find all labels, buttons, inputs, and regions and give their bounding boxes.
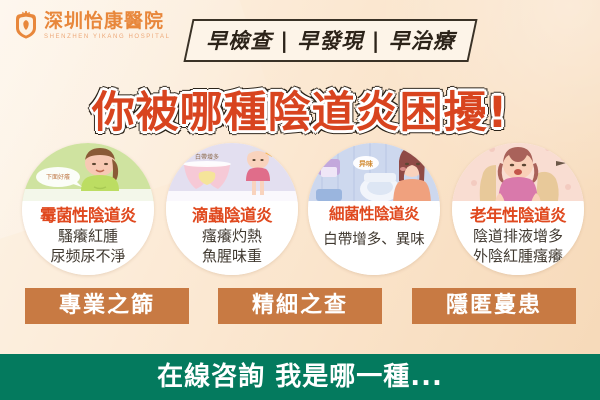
condition-card-body: 滴蟲陰道炎 瘙癢灼熱 魚腥味重	[166, 201, 298, 275]
online-consultation-cta[interactable]: 在線咨詢 我是哪一種...	[0, 354, 600, 400]
condition-symptom: 騷癢紅腫	[22, 228, 154, 246]
condition-symptom: 外陰紅腫瘙癢	[452, 248, 584, 266]
hospital-logo[interactable]: 深圳怡康醫院 SHENZHEN YIKANG HOSPITAL	[13, 11, 171, 40]
condition-title: 霉菌性陰道炎	[22, 202, 154, 226]
condition-title: 細菌性陰道炎	[308, 202, 440, 224]
condition-card[interactable]: 下面好癢 霉菌性陰道炎 騷癢紅腫 尿频尿不淨	[22, 143, 154, 275]
logo-name-en: SHENZHEN YIKANG HOSPITAL	[44, 34, 171, 40]
tagline-text: 早檢查 | 早發現 | 早治療	[206, 25, 455, 55]
condition-symptom: 白帶增多、異味	[308, 232, 440, 249]
tagline-box: 早檢查 | 早發現 | 早治療	[183, 19, 477, 62]
condition-card-body: 老年性陰道炎 陰道排液增多 外陰紅腫瘙癢	[452, 201, 584, 275]
condition-card-body: 霉菌性陰道炎 騷癢紅腫 尿频尿不淨	[22, 201, 154, 275]
svg-text:异味: 异味	[359, 159, 373, 168]
advertisement-banner: 深圳怡康醫院 SHENZHEN YIKANG HOSPITAL 早檢查 | 早發…	[0, 0, 600, 400]
feature-pill-examination[interactable]: 精細之查	[218, 288, 382, 324]
condition-symptom: 瘙癢灼熱	[166, 228, 298, 246]
condition-card[interactable]: 白帶增多 滴蟲陰道炎 瘙癢灼熱 魚腥味重	[166, 143, 298, 275]
condition-symptom: 魚腥味重	[166, 248, 298, 266]
page-title: 你被哪種陰道炎困擾!	[0, 78, 600, 140]
condition-card[interactable]: 异味 細菌性陰道炎 白帶增多、異味	[308, 143, 440, 275]
condition-symptom: 尿频尿不淨	[22, 248, 154, 266]
feature-pill-hidden-risk[interactable]: 隱匿蔓患	[412, 288, 576, 324]
condition-title: 老年性陰道炎	[452, 202, 584, 226]
underwear-discharge-icon: 白帶增多	[166, 143, 298, 207]
feature-pill-list: 專業之篩 精細之查 隱匿蔓患	[0, 288, 600, 326]
bathroom-odor-icon: 异味	[308, 143, 440, 207]
logo-name-cn: 深圳怡康醫院	[44, 12, 171, 31]
condition-card-body: 細菌性陰道炎 白帶增多、異味	[308, 201, 440, 275]
condition-card[interactable]: 老年性陰道炎 陰道排液增多 外陰紅腫瘙癢	[452, 143, 584, 275]
tagline: 早檢查 | 早發現 | 早治療	[188, 19, 473, 62]
condition-symptom: 陰道排液增多	[452, 228, 584, 246]
elderly-woman-resting-icon	[452, 143, 584, 207]
feature-pill-screening[interactable]: 專業之篩	[25, 288, 189, 324]
condition-title: 滴蟲陰道炎	[166, 202, 298, 226]
condition-card-list: 下面好癢 霉菌性陰道炎 騷癢紅腫 尿频尿不淨 白帶增多	[0, 143, 600, 278]
svg-text:下面好癢: 下面好癢	[46, 173, 70, 181]
woman-itching-icon: 下面好癢	[22, 143, 154, 207]
svg-text:白帶增多: 白帶增多	[195, 153, 219, 161]
crowned-shield-icon	[13, 11, 39, 40]
